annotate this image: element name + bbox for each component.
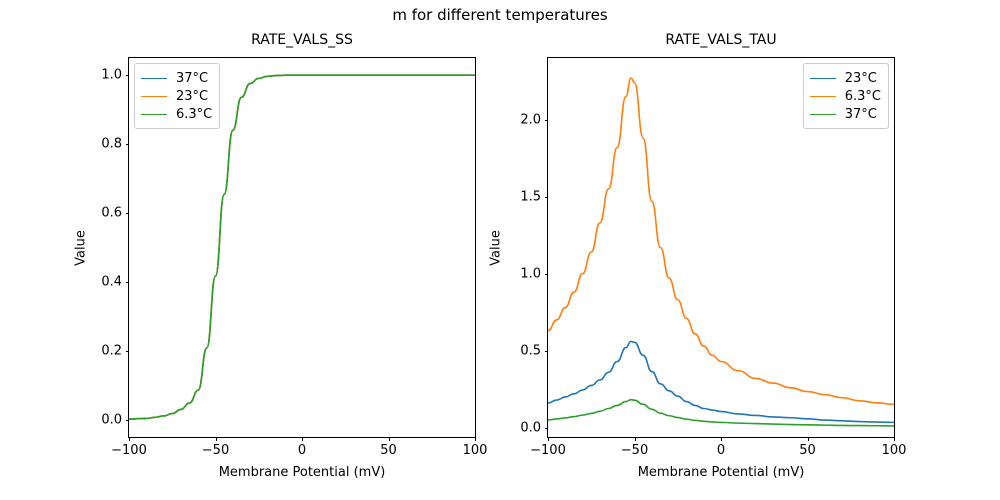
ylabel-tau: Value xyxy=(488,230,503,266)
legend-label: 6.3°C xyxy=(176,107,212,122)
y-tick-label: 0.6 xyxy=(101,206,122,221)
legend-line-icon xyxy=(810,78,836,79)
legend-line-icon xyxy=(810,114,836,115)
subplot-rate-vals-ss: RATE_VALS_SS Value Membrane Potential (m… xyxy=(128,57,476,438)
legend-item: 6.3°C xyxy=(141,105,212,123)
x-tick-label: 50 xyxy=(799,443,816,458)
legend-tau: 23°C 6.3°C 37°C xyxy=(803,63,889,129)
subplot-title-ss: RATE_VALS_SS xyxy=(129,32,475,48)
y-tick-mark xyxy=(126,351,130,352)
x-tick-label: 0 xyxy=(717,443,725,458)
ylabel-ss: Value xyxy=(73,230,88,266)
xlabel-tau: Membrane Potential (mV) xyxy=(548,465,894,480)
xlabel-ss: Membrane Potential (mV) xyxy=(129,465,475,480)
y-tick-mark xyxy=(545,351,549,352)
x-tick-mark xyxy=(129,437,130,441)
subplot-title-tau: RATE_VALS_TAU xyxy=(548,32,894,48)
y-tick-label: 0.8 xyxy=(101,137,122,152)
x-tick-label: −100 xyxy=(530,443,566,458)
x-tick-label: −100 xyxy=(111,443,147,458)
figure-suptitle: m for different temperatures xyxy=(0,6,1000,24)
y-tick-mark xyxy=(545,120,549,121)
legend-label: 23°C xyxy=(845,71,877,86)
x-tick-mark xyxy=(894,437,895,441)
y-tick-label: 0.5 xyxy=(520,343,541,358)
x-tick-mark xyxy=(216,437,217,441)
legend-item: 37°C xyxy=(810,105,881,123)
y-tick-mark xyxy=(126,282,130,283)
legend-label: 37°C xyxy=(845,107,877,122)
y-tick-label: 1.0 xyxy=(101,68,122,83)
y-tick-mark xyxy=(545,274,549,275)
legend-line-icon xyxy=(141,78,167,79)
y-tick-mark xyxy=(126,213,130,214)
y-tick-label: 1.5 xyxy=(520,189,541,204)
legend-item: 23°C xyxy=(141,87,212,105)
legend-item: 37°C xyxy=(141,69,212,87)
x-tick-label: 100 xyxy=(463,443,488,458)
data-line-37C xyxy=(548,400,894,426)
y-tick-label: 2.0 xyxy=(520,112,541,127)
legend-label: 37°C xyxy=(176,71,208,86)
x-tick-mark xyxy=(475,437,476,441)
legend-line-icon xyxy=(141,114,167,115)
legend-item: 6.3°C xyxy=(810,87,881,105)
legend-label: 23°C xyxy=(176,89,208,104)
x-tick-label: −50 xyxy=(621,443,648,458)
legend-line-icon xyxy=(141,96,167,97)
y-tick-mark xyxy=(126,144,130,145)
x-tick-mark xyxy=(721,437,722,441)
y-tick-mark xyxy=(126,75,130,76)
y-tick-mark xyxy=(545,197,549,198)
x-tick-label: 50 xyxy=(380,443,397,458)
legend-item: 23°C xyxy=(810,69,881,87)
subplot-rate-vals-tau: RATE_VALS_TAU Value Membrane Potential (… xyxy=(547,57,895,438)
matplotlib-figure: m for different temperatures RATE_VALS_S… xyxy=(0,0,1000,500)
data-line-23C xyxy=(548,341,894,422)
x-tick-mark xyxy=(808,437,809,441)
x-tick-label: 100 xyxy=(882,443,907,458)
y-tick-label: 0.0 xyxy=(101,412,122,427)
legend-label: 6.3°C xyxy=(845,89,881,104)
legend-line-icon xyxy=(810,96,836,97)
x-tick-mark xyxy=(548,437,549,441)
x-tick-mark xyxy=(302,437,303,441)
y-tick-label: 0.2 xyxy=(101,343,122,358)
x-tick-label: −50 xyxy=(202,443,229,458)
y-tick-label: 0.4 xyxy=(101,274,122,289)
y-tick-mark xyxy=(126,420,130,421)
x-tick-mark xyxy=(635,437,636,441)
y-tick-mark xyxy=(545,428,549,429)
x-tick-label: 0 xyxy=(298,443,306,458)
y-tick-label: 1.0 xyxy=(520,266,541,281)
x-tick-mark xyxy=(389,437,390,441)
legend-ss: 37°C 23°C 6.3°C xyxy=(134,63,220,129)
y-tick-label: 0.0 xyxy=(520,420,541,435)
